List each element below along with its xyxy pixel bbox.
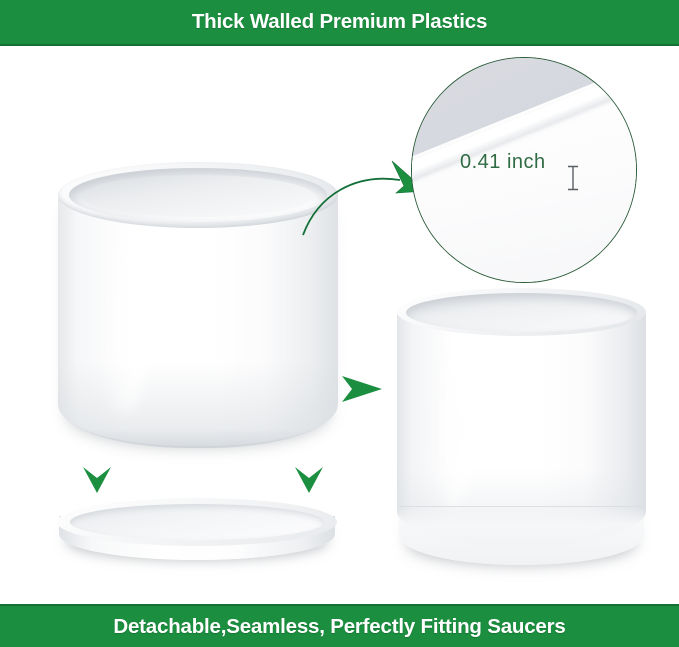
pot-left-interior: [82, 175, 314, 217]
top-banner: Thick Walled Premium Plastics: [0, 0, 679, 46]
align-chevron-right: [294, 466, 324, 494]
detached-saucer: [57, 498, 337, 570]
down-chevron-icon: [83, 467, 111, 493]
wall-thickness-label: 0.41 inch: [460, 151, 546, 174]
caliper-marker-icon: [566, 165, 580, 191]
pot-right-attached-saucer: [399, 506, 644, 565]
bottom-banner-text: Detachable,Seamless, Perfectly Fitting S…: [113, 615, 565, 639]
down-chevron-icon: [295, 467, 323, 493]
right-arrow-icon: [342, 376, 382, 402]
product-feature-image: Thick Walled Premium Plastics 0.41 inch: [0, 0, 679, 647]
saucer-inner-surface: [70, 504, 324, 540]
bottom-banner: Detachable,Seamless, Perfectly Fitting S…: [0, 604, 679, 647]
pot-right-interior: [406, 293, 637, 332]
planter-pot-right-assembled: [397, 288, 646, 570]
align-chevron-left: [82, 466, 112, 494]
pot-right-highlight: [429, 348, 475, 508]
magnified-wall-detail: 0.41 inch: [411, 57, 637, 283]
planter-pot-left: [58, 162, 338, 472]
assembly-arrow: [340, 372, 384, 406]
top-banner-text: Thick Walled Premium Plastics: [192, 10, 487, 34]
pot-left-highlight: [96, 234, 150, 414]
